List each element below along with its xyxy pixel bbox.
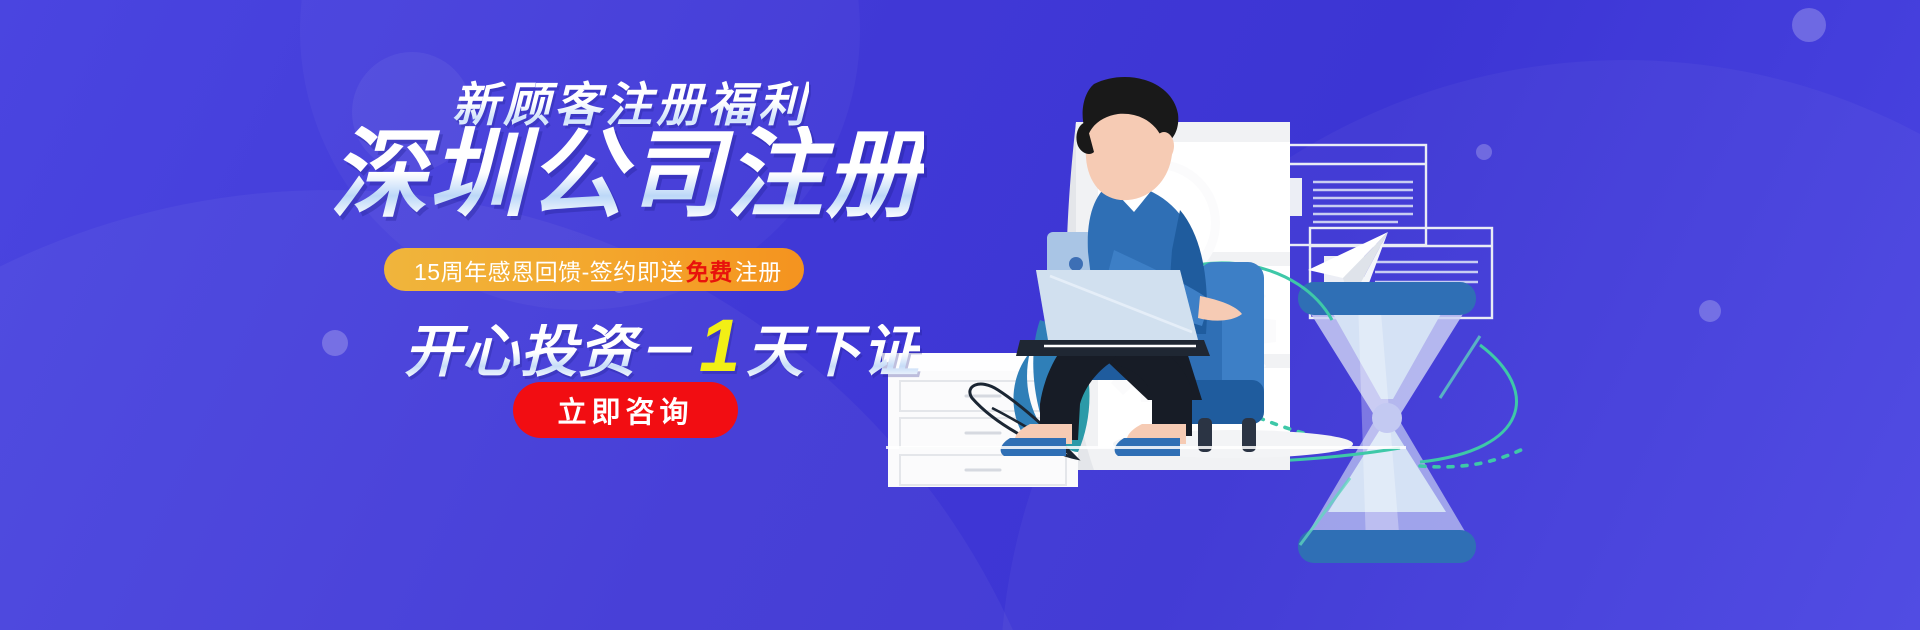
promo-banner: 新顾客注册福利 深圳公司注册 15周年感恩回馈-签约即送 免费 注册 开心投资－…: [0, 0, 1920, 630]
promo-badge: 15周年感恩回馈-签约即送 免费 注册: [384, 248, 804, 291]
banner-copy: 新顾客注册福利 深圳公司注册 15周年感恩回馈-签约即送 免费 注册 开心投资－…: [0, 0, 960, 630]
hero-illustration: [880, 0, 1920, 630]
subline-number: 1: [694, 309, 746, 383]
subline-before: 开心投资－: [404, 324, 694, 381]
subline-after: 天下证: [746, 324, 920, 381]
banner-subline: 开心投资－ 1 天下证: [404, 309, 920, 383]
promo-badge-prefix: 15周年感恩回馈-签约即送: [414, 253, 684, 287]
promo-badge-suffix: 注册: [735, 253, 782, 287]
floor-baseline: [886, 446, 1406, 449]
consult-now-button[interactable]: 立即咨询: [513, 382, 738, 438]
page-title: 深圳公司注册: [330, 126, 924, 223]
promo-badge-highlight: 免费: [684, 253, 735, 287]
